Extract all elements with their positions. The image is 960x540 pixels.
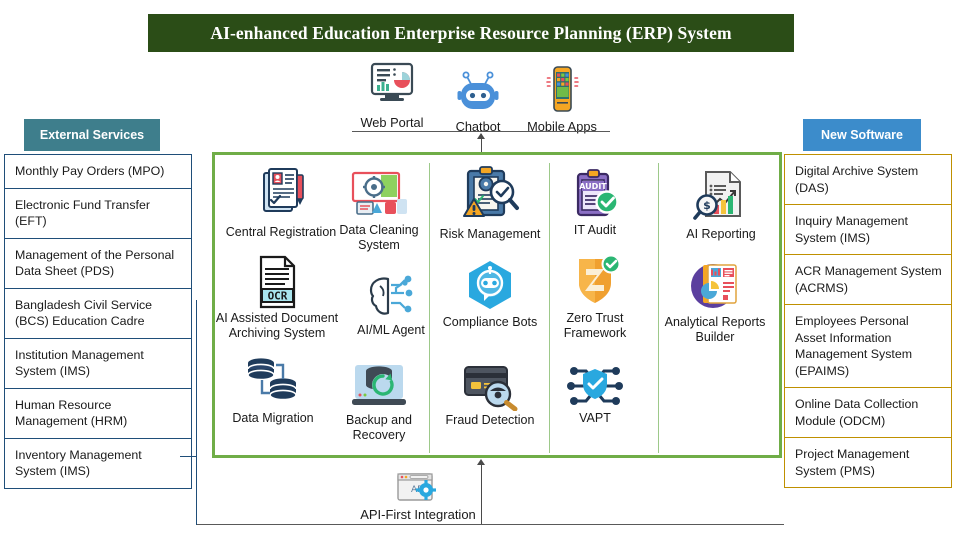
audit-clipboard-icon: AUDIT xyxy=(569,167,621,221)
svg-text:AUDIT: AUDIT xyxy=(579,182,607,191)
external-service-item[interactable]: Bangladesh Civil Service (BCS) Education… xyxy=(4,288,192,338)
core-node-data-migration[interactable]: Data Migration xyxy=(213,353,333,426)
core-node-fraud-detection[interactable]: Fraud Detection xyxy=(430,361,550,428)
external-service-item[interactable]: Human Resource Management (HRM) xyxy=(4,388,192,438)
external-services-badge: External Services xyxy=(24,119,160,151)
access-channels-group: Web Portal Chatbot xyxy=(350,58,612,136)
integration-bus-line xyxy=(196,524,784,525)
core-node-label: IT Audit xyxy=(574,223,616,238)
external-service-item[interactable]: Monthly Pay Orders (MPO) xyxy=(4,154,192,188)
vapt-network-shield-icon xyxy=(565,363,625,409)
external-services-connector-vertical xyxy=(196,300,197,525)
core-node-label: AI Reporting xyxy=(681,227,761,242)
svg-text:OCR: OCR xyxy=(268,289,288,302)
api-gear-browser-icon: API xyxy=(392,472,444,506)
core-platform-box: Central Registration OCR AI Assist xyxy=(212,152,782,458)
core-node-label: Analytical Reports Builder xyxy=(651,315,779,345)
api-first-integration-label: API-First Integration xyxy=(360,507,476,522)
desktop-dashboard-icon xyxy=(364,58,420,114)
new-software-item[interactable]: Inquiry Management System (IMS) xyxy=(784,204,952,254)
core-node-ai-document-archiving[interactable]: OCR AI Assisted Document Archiving Syste… xyxy=(217,255,337,341)
external-service-item[interactable]: Electronic Fund Transfer (EFT) xyxy=(4,188,192,238)
new-software-item[interactable]: Digital Archive System (DAS) xyxy=(784,154,952,204)
external-service-item[interactable]: Inventory Management System (IMS) xyxy=(4,438,192,489)
ai-report-chart-icon: $ xyxy=(692,169,750,225)
core-node-label: Compliance Bots xyxy=(443,315,538,330)
core-node-zero-trust-framework[interactable]: Zero Trust Framework xyxy=(535,253,655,341)
data-cleaning-icon xyxy=(347,169,411,221)
new-software-badge: New Software xyxy=(803,119,921,151)
core-node-risk-management[interactable]: Risk Management xyxy=(430,165,550,242)
integration-to-core-arrowhead xyxy=(477,459,485,465)
external-service-item[interactable]: Management of the Personal Data Sheet (P… xyxy=(4,238,192,288)
channel-mobile-apps[interactable]: Mobile Apps xyxy=(522,64,602,134)
new-software-item[interactable]: ACR Management System (ACRMS) xyxy=(784,254,952,304)
core-node-label: Backup and Recovery xyxy=(319,413,439,443)
registration-card-icon xyxy=(254,167,308,223)
channel-chatbot[interactable]: Chatbot xyxy=(438,68,518,134)
core-node-label: AI/ML Agent xyxy=(357,323,425,338)
core-node-label: VAPT xyxy=(579,411,611,426)
new-software-item[interactable]: Project Management System (PMS) xyxy=(784,437,952,488)
ai-brain-icon xyxy=(363,273,419,321)
core-node-it-audit[interactable]: AUDIT IT Audit xyxy=(535,167,655,238)
access-channel-bus-line xyxy=(352,131,610,132)
risk-clipboard-icon xyxy=(458,165,522,225)
external-services-connector-horizontal xyxy=(180,456,197,457)
core-node-label: Data Cleaning System xyxy=(329,223,429,253)
chatbot-robot-icon xyxy=(453,68,503,118)
ocr-document-icon: OCR xyxy=(252,255,302,309)
erp-architecture-diagram: AI-enhanced Education Enterprise Resourc… xyxy=(0,0,960,540)
api-first-integration-node[interactable]: API API-First Integration xyxy=(338,472,498,522)
fraud-card-icon xyxy=(460,361,520,411)
backup-recovery-icon xyxy=(349,361,409,411)
external-services-badge-label: External Services xyxy=(40,128,144,142)
core-node-label: Fraud Detection xyxy=(443,413,538,428)
zero-trust-shield-icon xyxy=(567,253,623,309)
core-node-vapt[interactable]: VAPT xyxy=(535,363,655,426)
new-software-item[interactable]: Employees Personal Asset Information Man… xyxy=(784,304,952,387)
svg-text:$: $ xyxy=(703,199,711,212)
new-software-badge-label: New Software xyxy=(821,128,903,142)
new-software-item[interactable]: Online Data Collection Module (ODCM) xyxy=(784,387,952,437)
core-node-label: Risk Management xyxy=(440,227,541,242)
mobile-phone-icon xyxy=(535,64,589,118)
new-software-panel: Digital Archive System (DAS) Inquiry Man… xyxy=(784,154,952,488)
core-node-backup-and-recovery[interactable]: Backup and Recovery xyxy=(319,361,439,443)
core-node-ai-reporting[interactable]: $ AI Reporting xyxy=(661,169,781,242)
compliance-bot-icon xyxy=(463,259,517,313)
channel-label: Web Portal xyxy=(360,115,423,130)
external-services-panel: Monthly Pay Orders (MPO) Electronic Fund… xyxy=(4,154,192,489)
core-node-label: AI Assisted Document Archiving System xyxy=(205,311,350,341)
page-title: AI-enhanced Education Enterprise Resourc… xyxy=(148,14,794,52)
core-node-data-cleaning-system[interactable]: Data Cleaning System xyxy=(319,169,439,253)
core-node-compliance-bots[interactable]: Compliance Bots xyxy=(430,259,550,330)
external-service-item[interactable]: Institution Management System (IMS) xyxy=(4,338,192,388)
channel-web-portal[interactable]: Web Portal xyxy=(352,58,432,130)
core-node-label: Data Migration xyxy=(232,411,313,426)
core-node-label: Zero Trust Framework xyxy=(549,311,641,341)
analytical-reports-icon xyxy=(687,259,743,313)
page-title-text: AI-enhanced Education Enterprise Resourc… xyxy=(210,23,731,44)
core-node-analytical-reports-builder[interactable]: Analytical Reports Builder xyxy=(655,259,775,345)
core-to-channels-arrowhead xyxy=(477,133,485,139)
database-migration-icon xyxy=(243,353,303,409)
